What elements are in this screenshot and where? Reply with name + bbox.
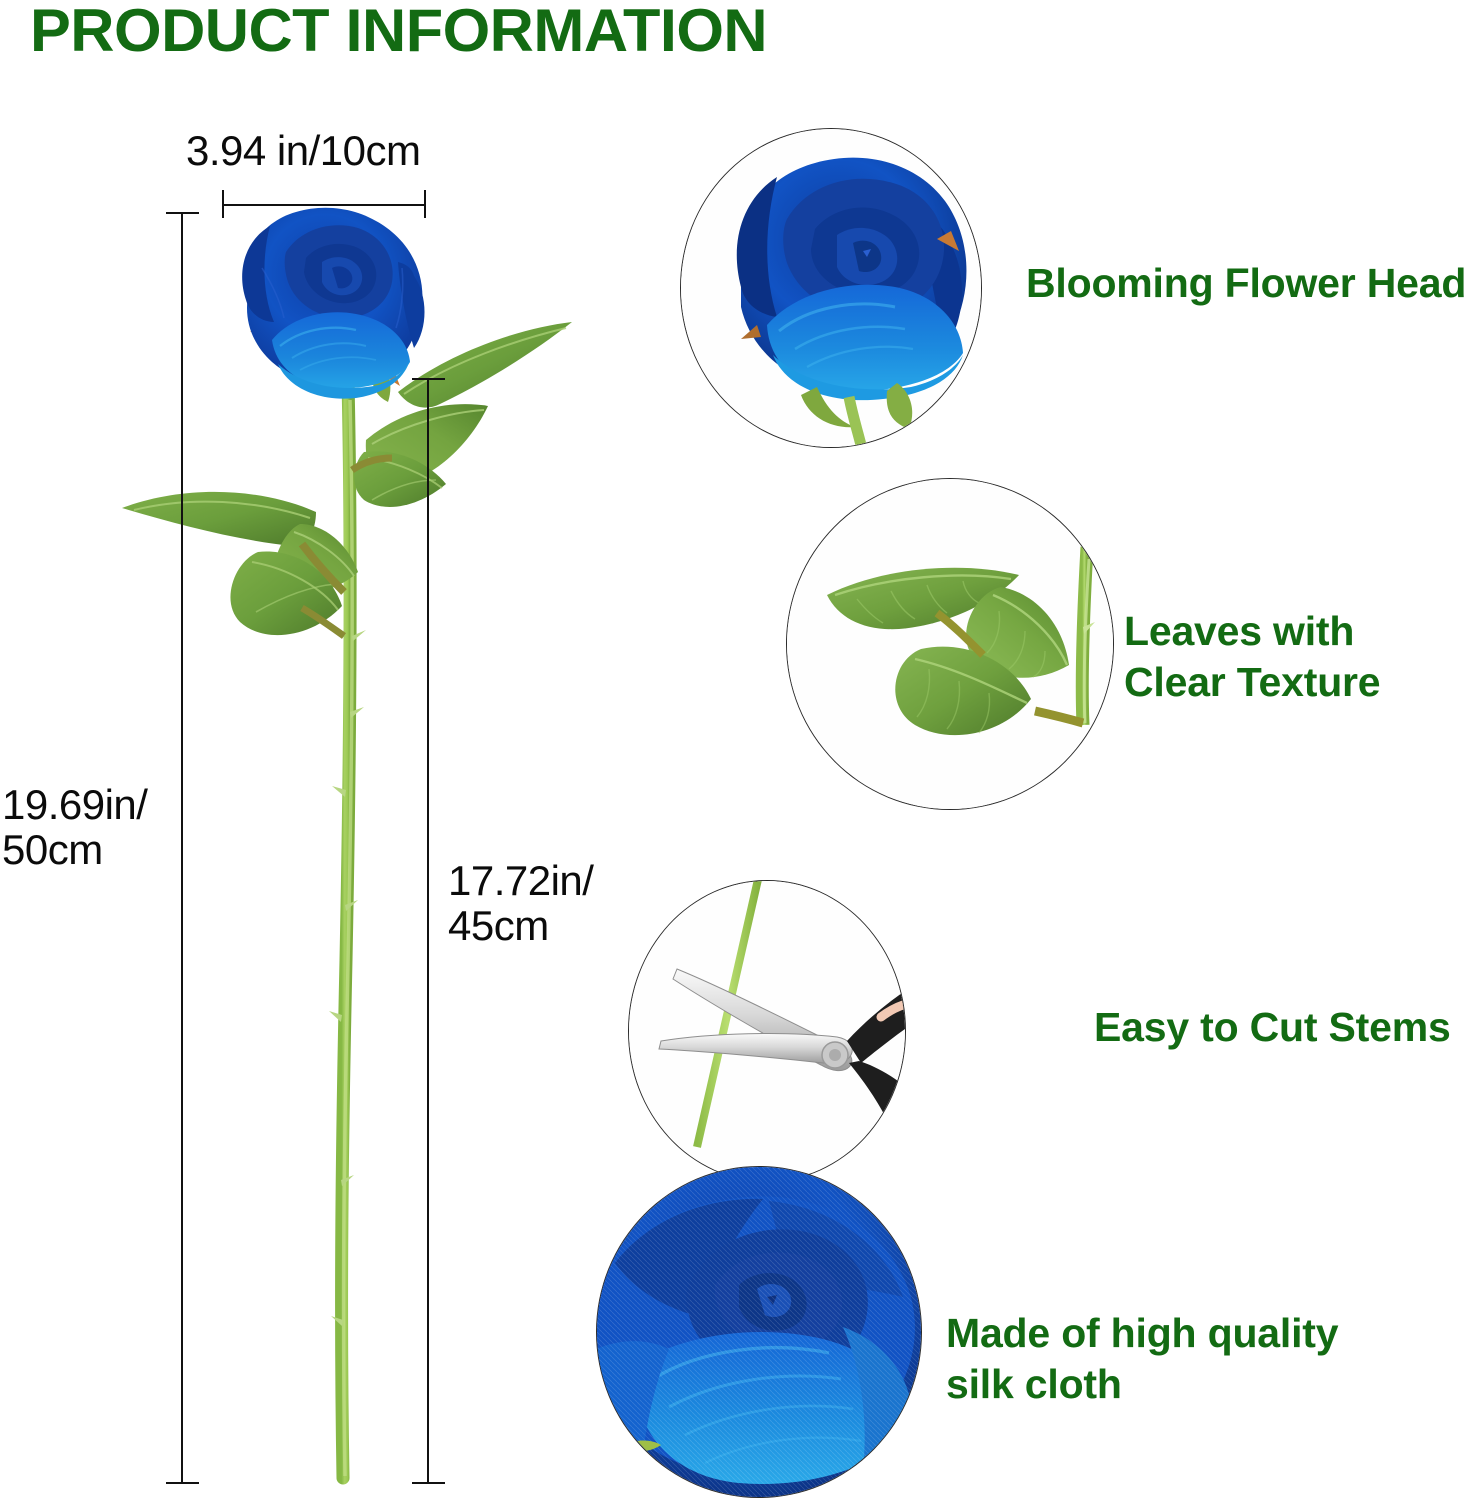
stem-height-dimension-label: 17.72in/ 45cm [448, 858, 593, 949]
total-height-tick-bottom [166, 1482, 199, 1484]
silk-fabric-closeup-image [597, 1167, 921, 1497]
feature-circle-easy-to-cut-stems [628, 880, 906, 1182]
stem-height-line [427, 378, 429, 1484]
scissors-cutting-stem-image [629, 881, 905, 1181]
feature-circle-high-quality-silk-cloth [596, 1166, 922, 1498]
feature-circle-leaves-clear-texture [786, 478, 1114, 810]
rose-head-closeup-image [681, 129, 981, 447]
width-dimension-line [222, 204, 426, 206]
product-figure [0, 0, 620, 1500]
leaves-closeup-image [787, 479, 1113, 809]
rose-illustration [0, 0, 620, 1500]
feature-label-leaves-clear-texture: Leaves with Clear Texture [1124, 606, 1380, 709]
feature-label-blooming-flower-head: Blooming Flower Head [1026, 258, 1466, 309]
total-height-dimension-label: 19.69in/ 50cm [2, 782, 147, 873]
total-height-line [181, 212, 183, 1484]
width-dimension-tick-left [222, 190, 224, 218]
width-dimension-label: 3.94 in/10cm [186, 128, 420, 173]
feature-label-high-quality-silk-cloth: Made of high quality silk cloth [946, 1308, 1338, 1411]
width-dimension-tick-right [424, 190, 426, 218]
feature-label-easy-to-cut-stems: Easy to Cut Stems [1094, 1002, 1451, 1053]
feature-circle-blooming-flower-head [680, 128, 982, 448]
stem-height-tick-bottom [412, 1482, 445, 1484]
